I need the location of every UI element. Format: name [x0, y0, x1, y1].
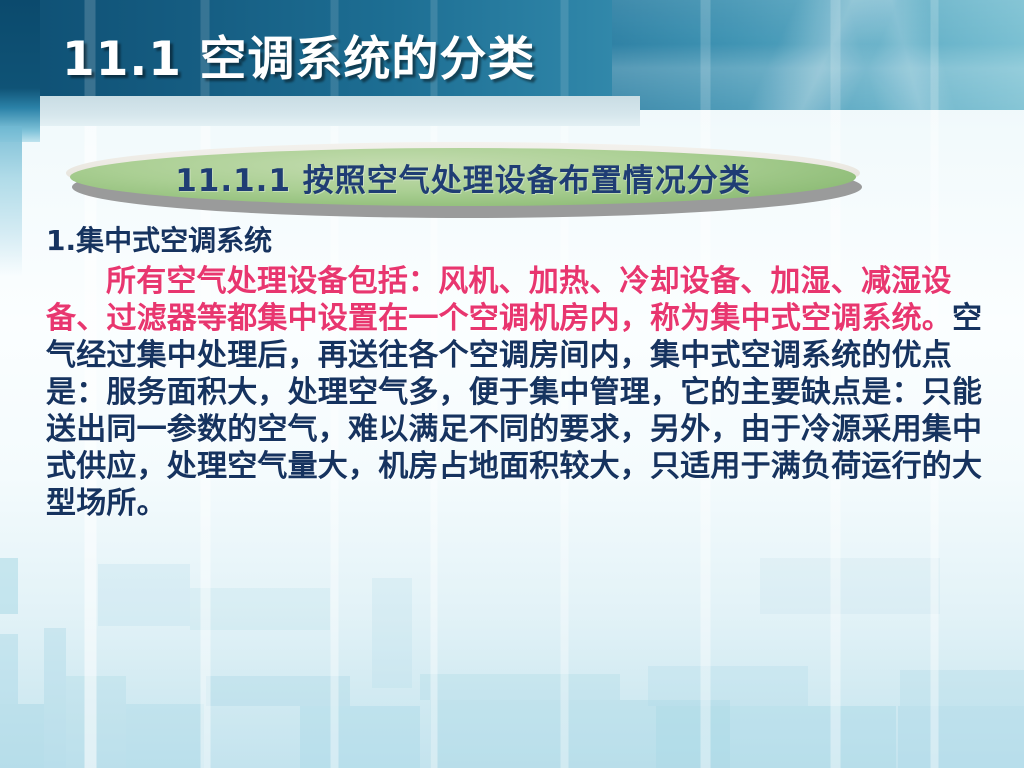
content-body: 1.集中式空调系统 所有空气处理设备包括：风机、加热、冷却设备、加湿、减湿设备、…: [46, 226, 996, 522]
slide-canvas: 11.1 空调系统的分类 11.1.1 按照空气处理设备布置情况分类 1.集中式…: [0, 0, 1024, 768]
slide-title: 11.1 空调系统的分类: [62, 20, 535, 89]
header-left-edge: [0, 0, 40, 142]
section-banner-label: 11.1.1 按照空气处理设备布置情况分类: [175, 155, 751, 200]
content-paragraph: 所有空气处理设备包括：风机、加热、冷却设备、加湿、减湿设备、过滤器等都集中设置在…: [46, 263, 996, 522]
header-secondary-band: [40, 96, 640, 126]
section-banner: 11.1.1 按照空气处理设备布置情况分类: [62, 142, 862, 220]
section-banner-face: 11.1.1 按照空气处理设备布置情况分类: [70, 148, 856, 206]
content-paragraph-highlight: 所有空气处理设备包括：风机、加热、冷却设备、加湿、减湿设备、过滤器等都集中设置在…: [46, 264, 952, 336]
header-left-edge-fade: [0, 126, 22, 276]
content-heading: 1.集中式空调系统: [46, 226, 996, 257]
